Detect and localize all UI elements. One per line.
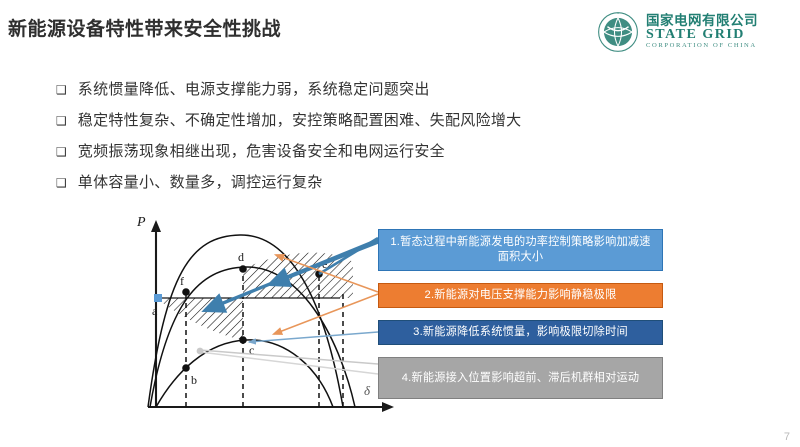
marker-d — [239, 265, 247, 273]
marker-label-a: a — [152, 304, 158, 318]
list-item: ❑ 单体容量小、数量多，调控运行复杂 — [56, 172, 676, 203]
square-bullet-icon: ❑ — [56, 110, 67, 132]
square-bullet-icon: ❑ — [56, 172, 67, 194]
list-item-label: 系统惯量降低、电源支撑能力弱，系统稳定问题突出 — [78, 79, 430, 101]
list-item: ❑ 稳定特性复杂、不确定性增加，安控策略配置困难、失配风险增大 — [56, 110, 676, 141]
callout-box-4[interactable]: 4.新能源接入位置影响超前、滞后机群相对运动 — [378, 357, 663, 399]
callout-box-1[interactable]: 1.暂态过程中新能源发电的功率控制策略影响加减速面积大小 — [378, 229, 663, 271]
list-item: ❑ 宽频振荡现象相继出现，危害设备安全和电网运行安全 — [56, 141, 676, 172]
page-title: 新能源设备特性带来安全性挑战 — [8, 14, 281, 41]
page-number: 7 — [784, 431, 790, 443]
marker-label-b: b — [191, 373, 197, 387]
callout-box-2[interactable]: 2.新能源对电压支撑能力影响静稳极限 — [378, 283, 663, 308]
svg-text:●: ● — [617, 11, 619, 15]
slide-canvas: 新能源设备特性带来安全性挑战 ● 国家电网有限公司 STATE GRID COR… — [0, 0, 800, 447]
callout-box-3[interactable]: 3.新能源降低系统惯量，影响极限切除时间 — [378, 320, 663, 345]
marker-f — [182, 288, 190, 296]
marker-a — [154, 294, 162, 302]
state-grid-logo: ● 国家电网有限公司 STATE GRID CORPORATION OF CHI… — [596, 10, 758, 54]
list-item-label: 单体容量小、数量多，调控运行复杂 — [78, 172, 323, 194]
state-grid-globe-icon: ● — [596, 10, 640, 54]
marker-label-f: f — [180, 274, 184, 288]
x-axis-label: δ — [364, 383, 371, 398]
logo-company-name-en: STATE GRID — [646, 28, 758, 43]
marker-c — [239, 336, 247, 344]
logo-text-block: 国家电网有限公司 STATE GRID CORPORATION OF CHINA — [646, 14, 758, 50]
logo-company-name-cn: 国家电网有限公司 — [646, 14, 758, 28]
list-item-label: 稳定特性复杂、不确定性增加，安控策略配置困难、失配风险增大 — [78, 110, 522, 132]
list-item-label: 宽频振荡现象相继出现，危害设备安全和电网运行安全 — [78, 141, 445, 163]
square-bullet-icon: ❑ — [56, 79, 67, 101]
logo-company-subtitle-en: CORPORATION OF CHINA — [646, 43, 758, 50]
y-axis-label: P — [136, 215, 146, 230]
chart-axes: P δ — [136, 215, 394, 412]
square-bullet-icon: ❑ — [56, 141, 67, 163]
fault-curve — [156, 340, 333, 407]
connector-to-callout-4 — [197, 348, 378, 374]
bullet-list: ❑ 系统惯量降低、电源支撑能力弱，系统稳定问题突出 ❑ 稳定特性复杂、不确定性增… — [56, 79, 676, 203]
marker-label-d: d — [238, 250, 244, 264]
marker-b — [182, 364, 190, 372]
list-item: ❑ 系统惯量降低、电源支撑能力弱，系统稳定问题突出 — [56, 79, 676, 110]
connector-to-callout-3 — [249, 332, 378, 342]
